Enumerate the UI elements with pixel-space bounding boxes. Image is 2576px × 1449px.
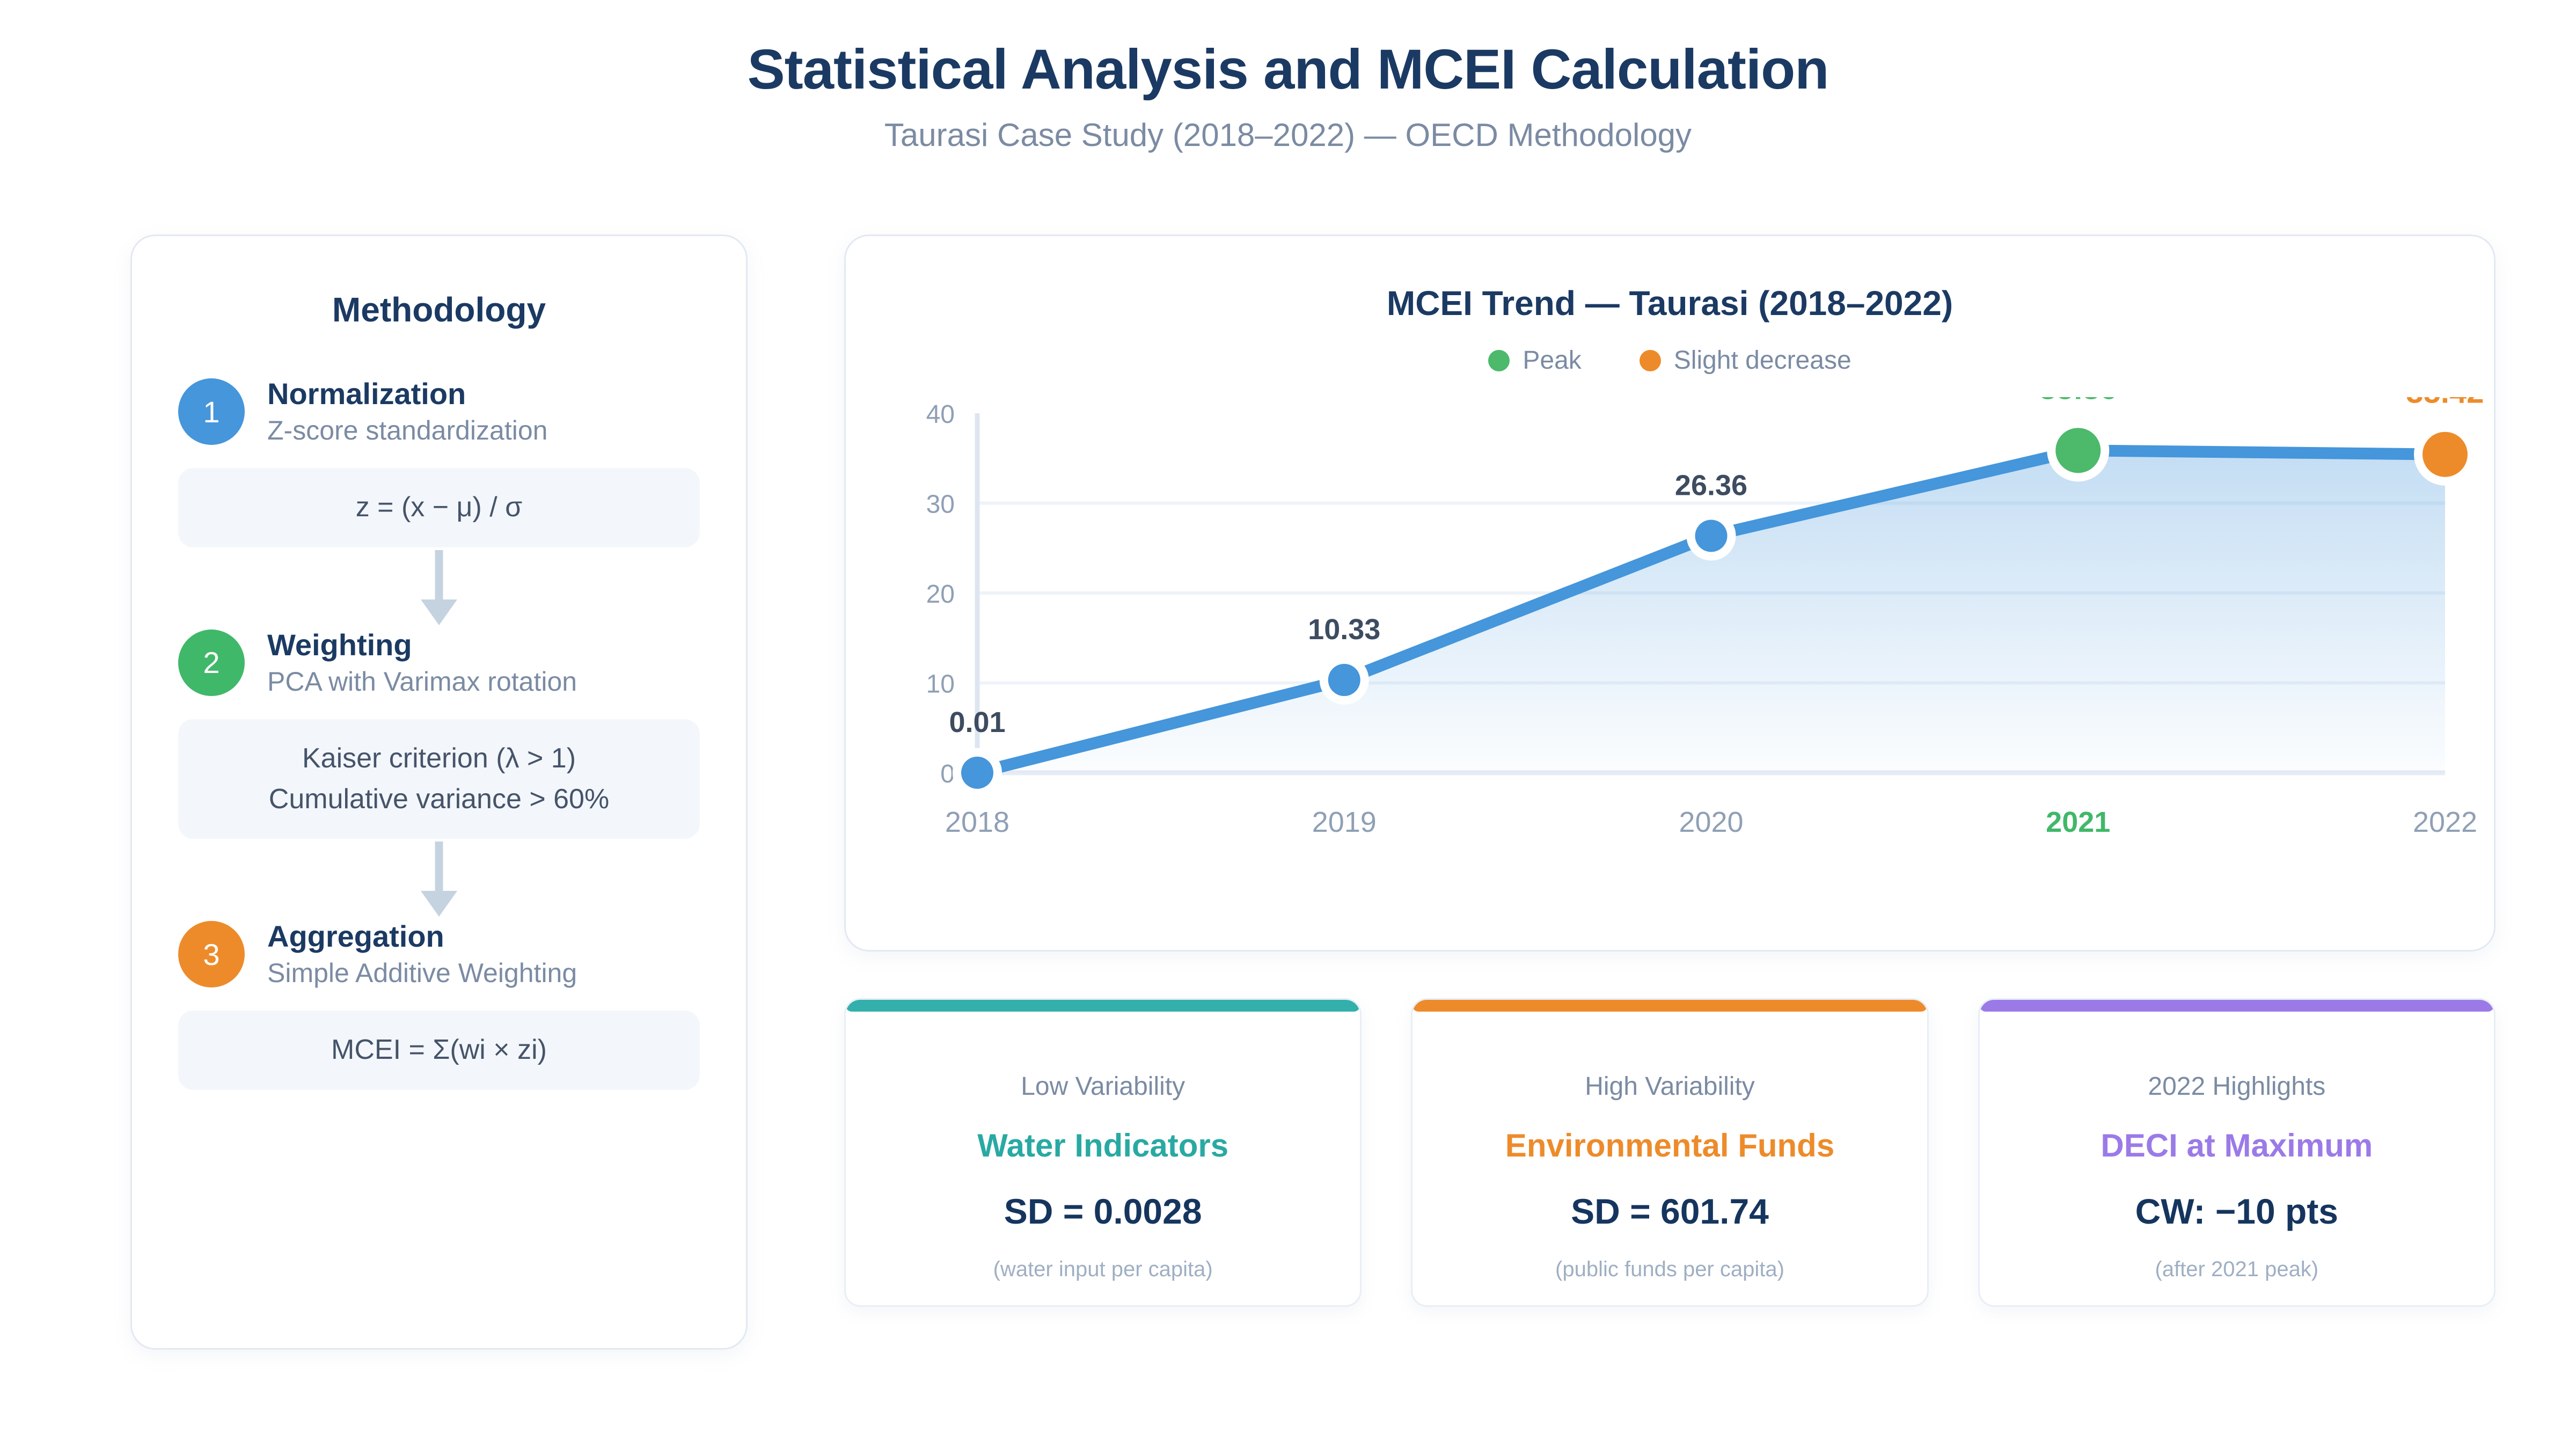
step-1-badge: 1	[178, 378, 245, 445]
y-tick-label: 0	[940, 760, 955, 788]
stat-card-water-indicators[interactable]: Low Variability Water Indicators SD = 0.…	[844, 998, 1362, 1307]
methodology-title: Methodology	[132, 290, 746, 330]
step-3-text: Aggregation Simple Additive Weighting	[267, 919, 577, 989]
step-2-desc: PCA with Varimax rotation	[267, 665, 577, 698]
stat-card-row: Low Variability Water Indicators SD = 0.…	[844, 998, 2495, 1307]
data-point-marker	[2055, 428, 2101, 473]
stat-card-note: (water input per capita)	[993, 1257, 1213, 1282]
page-subtitle: Taurasi Case Study (2018–2022) — OECD Me…	[0, 116, 2576, 153]
step-1-text: Normalization Z-score standardization	[267, 377, 547, 447]
methodology-steps: 1 Normalization Z-score standardization …	[132, 377, 746, 1090]
stat-card-note: (after 2021 peak)	[2155, 1257, 2319, 1282]
arrow-stem	[435, 550, 443, 602]
step-1-formula-box: z = (x − μ) / σ	[178, 468, 700, 547]
stat-card-environmental-funds[interactable]: High Variability Environmental Funds SD …	[1411, 998, 1928, 1307]
legend-label-slight-decrease: Slight decrease	[1674, 346, 1851, 375]
step-3-name: Aggregation	[267, 919, 577, 954]
legend-label-peak: Peak	[1523, 346, 1581, 375]
arrow-down-icon	[423, 841, 455, 917]
x-tick-label: 2022	[2413, 806, 2477, 838]
stat-accent-bar	[1980, 1000, 2494, 1012]
stat-card-value: CW: −10 pts	[2135, 1191, 2338, 1232]
methodology-step-3: 3 Aggregation Simple Additive Weighting	[178, 919, 700, 989]
data-point-label: 35.86	[2039, 397, 2117, 406]
data-point-label: 10.33	[1308, 613, 1380, 646]
chart-plot-area: 0102030400.0110.3326.3635.8635.422018201…	[846, 397, 2497, 953]
y-tick-label: 30	[926, 491, 955, 519]
stat-card-category: Low Variability	[1021, 1072, 1185, 1101]
data-point-marker	[961, 757, 993, 789]
data-point-marker	[2423, 432, 2468, 477]
legend-item-slight-decrease[interactable]: Slight decrease	[1640, 346, 1851, 375]
data-point-label: 35.42	[2406, 397, 2484, 410]
y-tick-label: 40	[926, 400, 955, 429]
page-header: Statistical Analysis and MCEI Calculatio…	[0, 38, 2576, 153]
step-3-badge: 3	[178, 921, 245, 987]
y-tick-label: 20	[926, 580, 955, 609]
stat-card-value: SD = 0.0028	[1004, 1191, 1202, 1232]
data-point-label: 26.36	[1675, 469, 1747, 501]
stat-accent-bar	[846, 1000, 1360, 1012]
stat-card-name: Environmental Funds	[1505, 1127, 1834, 1164]
step-1-desc: Z-score standardization	[267, 414, 547, 447]
x-tick-label: 2021	[2046, 806, 2110, 838]
methodology-step-1: 1 Normalization Z-score standardization	[178, 377, 700, 447]
mcei-trend-chart-card: MCEI Trend — Taurasi (2018–2022) Peak Sl…	[844, 235, 2495, 952]
stat-accent-bar	[1413, 1000, 1927, 1012]
data-point-marker	[1328, 664, 1360, 696]
arrow-head	[421, 891, 457, 917]
x-tick-label: 2018	[945, 806, 1009, 838]
step-2-name: Weighting	[267, 628, 577, 662]
stat-card-deci-at-maximum[interactable]: 2022 Highlights DECI at Maximum CW: −10 …	[1978, 998, 2495, 1307]
stat-card-category: 2022 Highlights	[2148, 1072, 2325, 1101]
step-2-badge: 2	[178, 630, 245, 696]
step-2-text: Weighting PCA with Varimax rotation	[267, 628, 577, 698]
stat-card-name: Water Indicators	[977, 1127, 1228, 1164]
stat-card-name: DECI at Maximum	[2101, 1127, 2373, 1164]
data-point-label: 0.01	[949, 706, 1005, 738]
methodology-step-2: 2 Weighting PCA with Varimax rotation	[178, 628, 700, 698]
chart-legend: Peak Slight decrease	[846, 346, 2494, 375]
page-title: Statistical Analysis and MCEI Calculatio…	[0, 38, 2576, 103]
step-2-formula-box: Kaiser criterion (λ > 1) Cumulative vari…	[178, 719, 700, 839]
legend-item-peak[interactable]: Peak	[1488, 346, 1581, 375]
x-tick-label: 2020	[1679, 806, 1743, 838]
data-point-marker	[1695, 519, 1728, 552]
x-tick-label: 2019	[1312, 806, 1377, 838]
step-1-name: Normalization	[267, 377, 547, 411]
arrow-head	[421, 599, 457, 625]
step-connector-1	[178, 547, 700, 628]
step-2-formula-line-1: Kaiser criterion (λ > 1)	[189, 738, 689, 779]
stat-card-value: SD = 601.74	[1571, 1191, 1769, 1232]
arrow-down-icon	[423, 550, 455, 625]
step-1-formula-line-1: z = (x − μ) / σ	[189, 487, 689, 528]
legend-dot-slight-decrease-icon	[1640, 350, 1661, 371]
stat-card-category: High Variability	[1585, 1072, 1755, 1101]
step-3-formula-line-1: MCEI = Σ(wi × zi)	[189, 1030, 689, 1070]
line-chart-svg[interactable]: 0102030400.0110.3326.3635.8635.422018201…	[846, 397, 2497, 953]
stat-card-note: (public funds per capita)	[1555, 1257, 1784, 1282]
legend-dot-peak-icon	[1488, 350, 1510, 371]
step-connector-2	[178, 839, 700, 919]
methodology-card: Methodology 1 Normalization Z-score stan…	[130, 235, 748, 1350]
y-tick-label: 10	[926, 670, 955, 699]
arrow-stem	[435, 841, 443, 893]
step-3-formula-box: MCEI = Σ(wi × zi)	[178, 1011, 700, 1089]
step-2-formula-line-2: Cumulative variance > 60%	[189, 779, 689, 819]
slide-root: Statistical Analysis and MCEI Calculatio…	[0, 0, 2576, 1449]
step-3-desc: Simple Additive Weighting	[267, 957, 577, 989]
chart-title: MCEI Trend — Taurasi (2018–2022)	[846, 283, 2494, 323]
